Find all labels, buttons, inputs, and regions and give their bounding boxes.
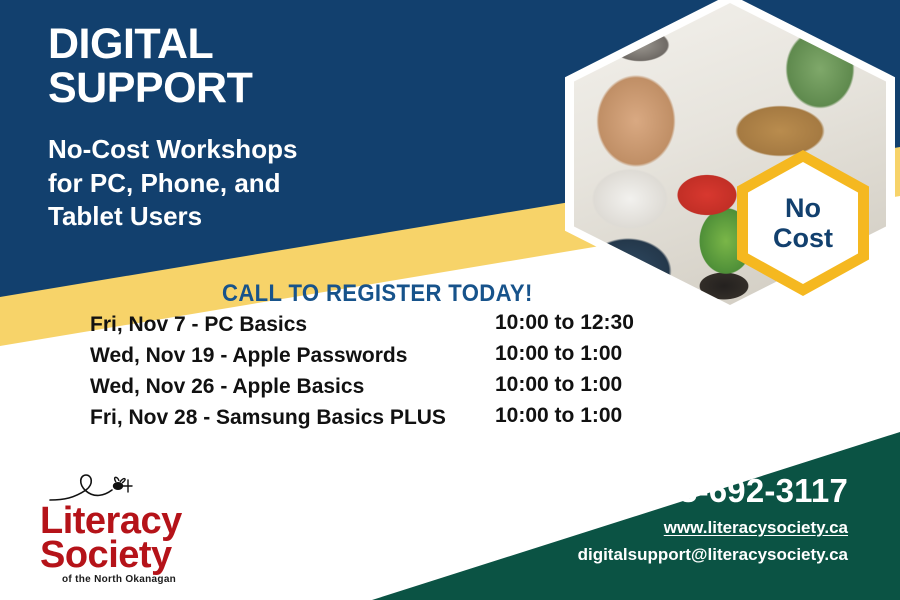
badge-label: No Cost	[737, 150, 869, 296]
website-link[interactable]: www.literacysociety.ca	[578, 518, 848, 538]
subtitle-line-3: Tablet Users	[48, 200, 297, 234]
schedule-row: Wed, Nov 26 - Apple Basics 10:00 to 1:00	[90, 375, 670, 406]
logo-line-2: Society	[40, 536, 172, 574]
title-line-1: DIGITAL	[48, 22, 252, 66]
schedule-time: 10:00 to 1:00	[495, 373, 622, 397]
email-address[interactable]: digitalsupport@literacysociety.ca	[578, 545, 848, 565]
schedule-label: Fri, Nov 28 - Samsung Basics PLUS	[90, 406, 446, 430]
logo-tagline: of the North Okanagan	[62, 574, 176, 585]
schedule-label: Fri, Nov 7 - PC Basics	[90, 313, 307, 337]
schedule-row: Wed, Nov 19 - Apple Passwords 10:00 to 1…	[90, 344, 670, 375]
literacy-society-logo: Literacy Society of the North Okanagan	[40, 470, 240, 585]
schedule-time: 10:00 to 1:00	[495, 404, 622, 428]
schedule-label: Wed, Nov 19 - Apple Passwords	[90, 344, 407, 368]
title-line-2: SUPPORT	[48, 66, 252, 110]
subtitle-line-2: for PC, Phone, and	[48, 167, 297, 201]
schedule-row: Fri, Nov 7 - PC Basics 10:00 to 12:30	[90, 313, 670, 344]
schedule-time: 10:00 to 12:30	[495, 311, 634, 335]
badge-line-1: No	[785, 193, 821, 223]
subtitle: No-Cost Workshops for PC, Phone, and Tab…	[48, 133, 297, 234]
contact-block: 778-692-3117 www.literacysociety.ca digi…	[578, 472, 848, 565]
schedule-label: Wed, Nov 26 - Apple Basics	[90, 375, 364, 399]
phone-number[interactable]: 778-692-3117	[578, 472, 848, 510]
workshop-schedule: Fri, Nov 7 - PC Basics 10:00 to 12:30 We…	[90, 313, 670, 437]
schedule-row: Fri, Nov 28 - Samsung Basics PLUS 10:00 …	[90, 406, 670, 437]
poster: DIGITAL SUPPORT No-Cost Workshops for PC…	[0, 0, 900, 600]
no-cost-badge: No Cost	[737, 150, 869, 296]
badge-line-2: Cost	[773, 223, 833, 253]
call-to-register-heading: CALL TO REGISTER TODAY!	[222, 280, 533, 308]
subtitle-line-1: No-Cost Workshops	[48, 133, 297, 167]
page-title: DIGITAL SUPPORT	[48, 22, 252, 111]
schedule-time: 10:00 to 1:00	[495, 342, 622, 366]
